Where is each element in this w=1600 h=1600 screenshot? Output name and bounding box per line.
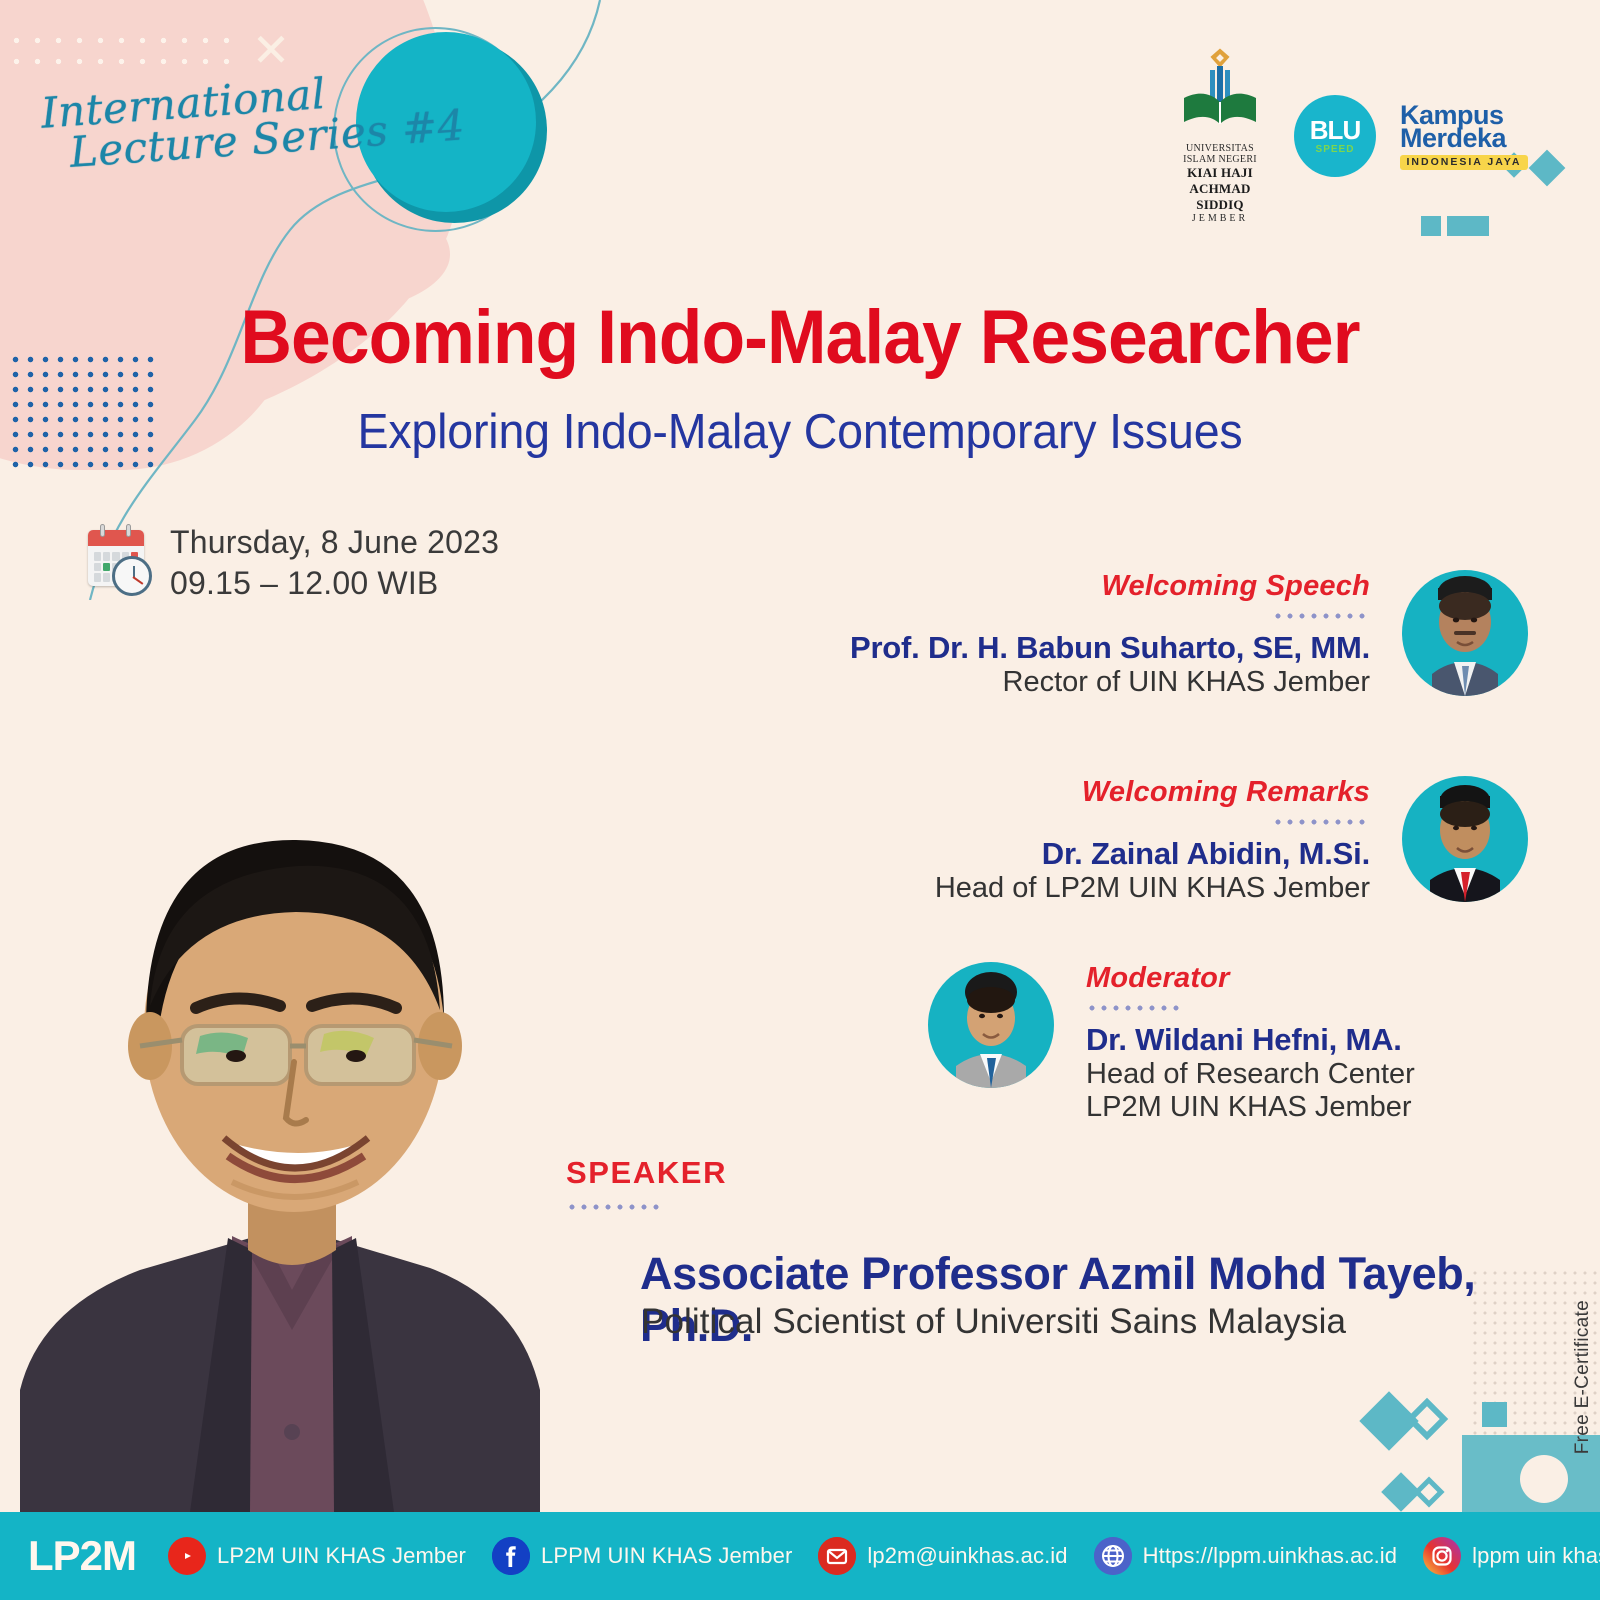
footer-item-facebook[interactable]: LPPM UIN KHAS Jember — [492, 1537, 792, 1575]
speaker-dot-divider — [566, 1201, 664, 1215]
email-icon — [818, 1537, 856, 1575]
uin-logo-line1: UNIVERSITAS ISLAM NEGERI — [1170, 143, 1270, 165]
role-person-name: Prof. Dr. H. Babun Suharto, SE, MM. — [850, 630, 1370, 666]
calendar-clock-icon — [82, 522, 152, 596]
role-dot-divider — [1272, 816, 1370, 830]
role-dot-divider — [1272, 610, 1370, 624]
diamond-outline-icon — [1413, 1476, 1444, 1507]
role-person-name: Dr. Zainal Abidin, M.Si. — [935, 836, 1370, 872]
page-subtitle: Exploring Indo-Malay Contemporary Issues — [40, 404, 1560, 460]
footer-item-label: lppm uin khas jember — [1472, 1543, 1600, 1569]
dot-grid-white — [6, 30, 240, 72]
avatar — [1402, 570, 1528, 696]
role-dot-divider — [1086, 1002, 1184, 1016]
poster-root: ✕ UNIVERSITAS ISLAM NEGERI — [0, 0, 1600, 1600]
facebook-icon — [492, 1537, 530, 1575]
uin-logo-line3: JEMBER — [1170, 213, 1270, 224]
footer-item-youtube[interactable]: LP2M UIN KHAS Jember — [168, 1537, 466, 1575]
speaker-position: Political Scientist of Universiti Sains … — [641, 1302, 1346, 1342]
role-person-name: Dr. Wildani Hefni, MA. — [1086, 1022, 1415, 1058]
speaker-label: SPEAKER — [566, 1155, 727, 1191]
footer-item-website[interactable]: Https://lppm.uinkhas.ac.id — [1094, 1537, 1398, 1575]
kampus-merdeka-logo: Kampus Merdeka INDONESIA JAYA — [1400, 102, 1528, 170]
role-welcoming-remarks: Welcoming Remarks Dr. Zainal Abidin, M.S… — [935, 776, 1528, 905]
footer-item-instagram[interactable]: lppm uin khas jember — [1423, 1537, 1600, 1575]
footer-contact-bar: LP2M LP2M UIN KHAS Jember LPPM UIN KHAS … — [0, 1512, 1600, 1600]
person-photo-head-lp2m — [1402, 776, 1528, 902]
avatar — [1402, 776, 1528, 902]
role-text-group: Welcoming Speech Prof. Dr. H. Babun Suha… — [850, 570, 1370, 699]
role-welcoming-speech: Welcoming Speech Prof. Dr. H. Babun Suha… — [850, 570, 1528, 699]
role-text-group: Welcoming Remarks Dr. Zainal Abidin, M.S… — [935, 776, 1370, 905]
blu-logo-text: BLU — [1310, 117, 1360, 143]
kampus-merdeka-line3: INDONESIA JAYA — [1400, 155, 1528, 170]
youtube-icon — [168, 1537, 206, 1575]
role-person-position: Rector of UIN KHAS Jember — [850, 666, 1370, 699]
blu-speed-subtext: SPEED — [1316, 144, 1355, 155]
footer-item-label: LP2M UIN KHAS Jember — [217, 1543, 466, 1569]
schedule-date: Thursday, 8 June 2023 — [170, 522, 499, 563]
avatar — [928, 962, 1054, 1088]
bottom-right-circle — [1520, 1455, 1568, 1503]
globe-icon — [1094, 1537, 1132, 1575]
schedule-text: Thursday, 8 June 2023 09.15 – 12.00 WIB — [170, 522, 499, 604]
person-photo-rector — [1402, 570, 1528, 696]
footer-item-label: lp2m@uinkhas.ac.id — [867, 1543, 1067, 1569]
lp2m-brand-logo: LP2M — [28, 1532, 136, 1580]
footer-item-email[interactable]: lp2m@uinkhas.ac.id — [818, 1537, 1067, 1575]
schedule-block: Thursday, 8 June 2023 09.15 – 12.00 WIB — [82, 522, 499, 604]
uin-khas-logo: UNIVERSITAS ISLAM NEGERI KIAI HAJI ACHMA… — [1170, 48, 1270, 224]
square-small-icon — [1482, 1402, 1507, 1427]
footer-item-label: LPPM UIN KHAS Jember — [541, 1543, 792, 1569]
kampus-merdeka-line2: Merdeka — [1400, 125, 1528, 152]
person-photo-moderator — [928, 962, 1054, 1088]
speaker-portrait-photo — [0, 690, 620, 1512]
role-label: Welcoming Speech — [850, 570, 1370, 603]
role-label: Welcoming Remarks — [935, 776, 1370, 809]
role-label: Moderator — [1086, 962, 1415, 995]
logo-row: UNIVERSITAS ISLAM NEGERI KIAI HAJI ACHMA… — [1170, 48, 1528, 224]
role-person-position: Head of LP2M UIN KHAS Jember — [935, 872, 1370, 905]
uin-logo-line2: KIAI HAJI ACHMAD SIDDIQ — [1170, 165, 1270, 213]
schedule-time: 09.15 – 12.00 WIB — [170, 563, 499, 604]
role-text-group: Moderator Dr. Wildani Hefni, MA. Head of… — [1086, 962, 1415, 1125]
footer-item-label: Https://lppm.uinkhas.ac.id — [1143, 1543, 1398, 1569]
free-certificate-note: Free E-Certificate — [1572, 1300, 1594, 1454]
role-person-position-line1: Head of Research Center — [1086, 1058, 1415, 1091]
blu-speed-logo: BLU SPEED — [1294, 95, 1376, 177]
page-title: Becoming Indo-Malay Researcher — [48, 294, 1552, 381]
diamond-filled-icon — [1529, 150, 1566, 187]
role-moderator: Moderator Dr. Wildani Hefni, MA. Head of… — [928, 962, 1415, 1125]
x-mark-icon: ✕ — [249, 28, 293, 72]
role-person-position-line2: LP2M UIN KHAS Jember — [1086, 1091, 1415, 1124]
instagram-icon — [1423, 1537, 1461, 1575]
speaker-label-group: SPEAKER — [566, 1155, 727, 1215]
uin-crest-icon — [1170, 48, 1270, 138]
diamond-outline-icon — [1406, 1398, 1448, 1440]
